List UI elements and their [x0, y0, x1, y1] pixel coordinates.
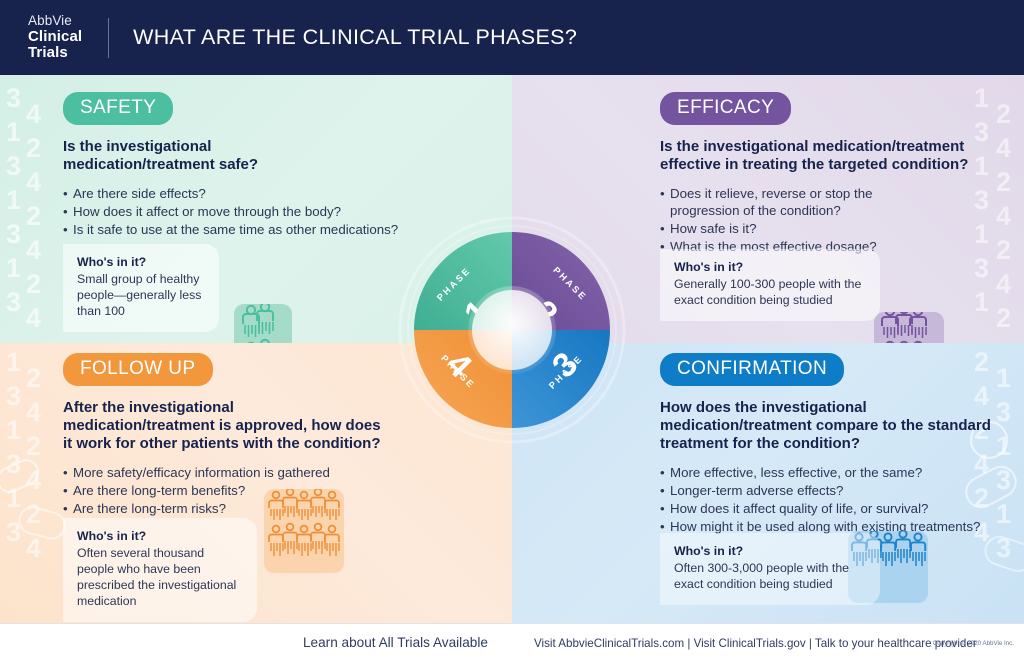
participants-icon-panel-followup [264, 489, 344, 573]
who-title: Who's in it? [674, 260, 866, 274]
who-title: Who's in it? [674, 544, 866, 558]
heading-efficacy: Is the investigational medication/treatm… [660, 138, 990, 174]
list-item: Longer-term adverse effects? [660, 482, 1008, 499]
logo-line-trials: Trials [28, 45, 82, 61]
people-icon-efficacy [874, 312, 944, 343]
pill-decor [15, 503, 69, 542]
who-body: Often several thousand people who have b… [77, 546, 243, 610]
bullet-list-safety: Are there side effects? How does it affe… [63, 185, 398, 238]
badge-efficacy: EFFICACY [660, 92, 791, 125]
heading-safety: Is the investigational medication/treatm… [63, 138, 363, 174]
abbvie-logo: AbbVie Clinical Trials [28, 14, 82, 61]
list-item: Are there side effects? [63, 185, 398, 202]
people-icon-safety [234, 304, 292, 343]
who-box-followup: Who's in it? Often several thousand peop… [63, 518, 257, 622]
list-item: How does it affect or move through the b… [63, 203, 398, 220]
logo-line-clinical: Clinical [28, 29, 82, 45]
who-box-confirmation: Who's in it? Often 300-3,000 people with… [660, 533, 880, 605]
heading-followup: After the investigational medication/tre… [63, 399, 385, 453]
participants-icon-panel-safety [234, 304, 292, 343]
who-title: Who's in it? [77, 255, 205, 269]
bullet-list-efficacy: Does it relieve, reverse or stop the pro… [660, 185, 910, 256]
who-title: Who's in it? [77, 529, 243, 543]
page-footer: Learn about All Trials Available Visit A… [0, 623, 1024, 663]
footer-learn-link[interactable]: Learn about All Trials Available [303, 635, 488, 650]
heading-confirmation: How does the investigational medication/… [660, 399, 1008, 453]
pill-decor [0, 455, 43, 497]
list-item: How does it affect quality of life, or s… [660, 500, 1008, 517]
badge-followup: FOLLOW UP [63, 353, 213, 386]
badge-confirmation: CONFIRMATION [660, 353, 844, 386]
who-body: Often 300-3,000 people with the exact co… [674, 561, 866, 593]
infographic-page: AbbVie Clinical Trials WHAT ARE THE CLIN… [0, 0, 1024, 663]
pill-decor [981, 532, 1024, 576]
footer-visit-links[interactable]: Visit AbbvieClinicalTrials.com | Visit C… [534, 637, 977, 650]
who-box-safety: Who's in it? Small group of healthy peop… [63, 244, 219, 332]
who-body: Generally 100-300 people with the exact … [674, 277, 866, 309]
list-item: More safety/efficacy information is gath… [63, 464, 385, 481]
people-icon-followup [264, 489, 344, 573]
list-item: More effective, less effective, or the s… [660, 464, 1008, 481]
list-item: Is it safe to use at the same time as ot… [63, 221, 398, 238]
footer-copyright: Copyright © 2020 AbbVie Inc. [933, 640, 1014, 647]
page-header: AbbVie Clinical Trials WHAT ARE THE CLIN… [0, 0, 1024, 75]
list-item: Does it relieve, reverse or stop the pro… [660, 185, 910, 219]
phase-wheel: PHASE 1 PHASE 2 PHASE 3 PHASE 4 [396, 214, 628, 446]
header-divider [108, 18, 109, 58]
who-body: Small group of healthy people—generally … [77, 272, 205, 320]
watermark-numbers-safety: 34 12 34 12 34 12 34 [0, 75, 54, 343]
list-item: How safe is it? [660, 220, 910, 237]
participants-icon-panel-efficacy [874, 312, 944, 343]
logo-line-abbvie: AbbVie [28, 14, 82, 29]
who-box-efficacy: Who's in it? Generally 100-300 people wi… [660, 249, 880, 321]
bullet-list-confirmation: More effective, less effective, or the s… [660, 464, 1008, 536]
page-title: WHAT ARE THE CLINICAL TRIAL PHASES? [133, 25, 577, 50]
badge-safety: SAFETY [63, 92, 173, 125]
